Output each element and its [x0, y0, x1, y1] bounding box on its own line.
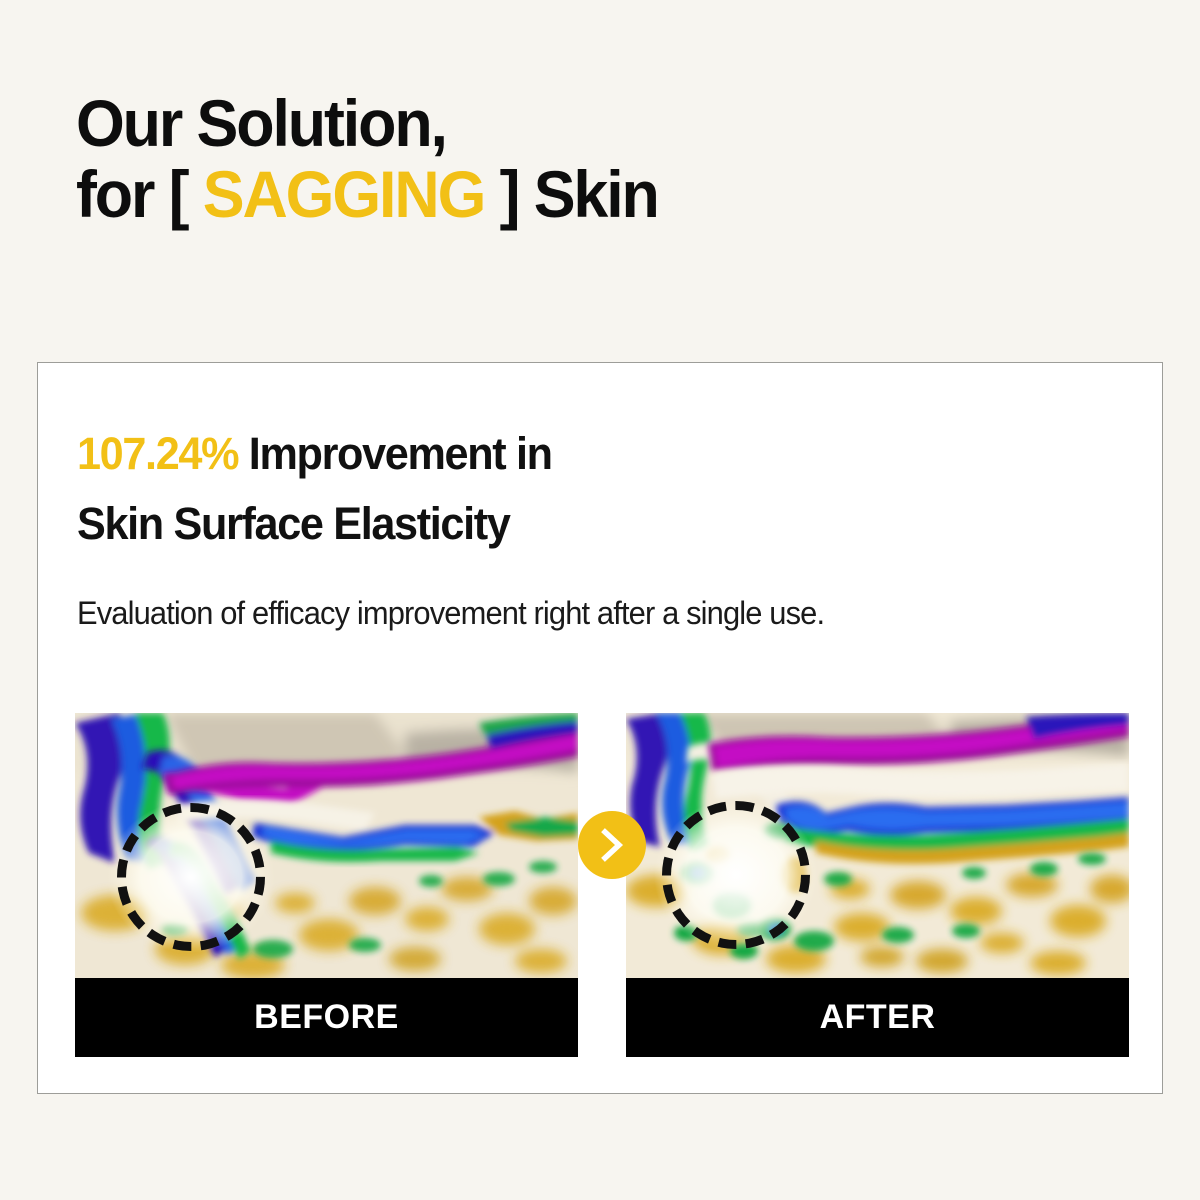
page-title-prefix: for [ — [76, 157, 203, 231]
page-title-line-2: for [ SAGGING ] Skin — [76, 159, 1026, 230]
comparison-panel-after: AFTER — [626, 713, 1129, 1057]
page-title-suffix: ] Skin — [484, 157, 658, 231]
before-after-comparison: BEFORE — [75, 713, 1129, 1057]
page-title-highlight: SAGGING — [203, 157, 484, 231]
promo-page: Our Solution, for [ SAGGING ] Skin 107.2… — [0, 0, 1200, 1200]
stat-percent-value: 107.24% — [77, 428, 238, 479]
highlight-ring-after — [662, 801, 810, 949]
chevron-right-icon[interactable] — [578, 811, 646, 879]
stat-heading-line-1-rest: Improvement in — [238, 428, 552, 479]
comparison-panel-before: BEFORE — [75, 713, 578, 1057]
efficacy-card: 107.24% Improvement in Skin Surface Elas… — [37, 362, 1163, 1094]
stat-heading-line-2: Skin Surface Elasticity — [77, 489, 1056, 559]
stat-heading-line-1: 107.24% Improvement in — [77, 419, 1056, 489]
highlight-ring-before — [117, 803, 265, 951]
panel-label-after: AFTER — [626, 978, 1129, 1057]
stat-heading: 107.24% Improvement in Skin Surface Elas… — [77, 419, 1056, 559]
panel-label-before: BEFORE — [75, 978, 578, 1057]
page-title-line-1: Our Solution, — [76, 88, 1026, 159]
stat-subtitle: Evaluation of efficacy improvement right… — [77, 595, 824, 632]
page-title: Our Solution, for [ SAGGING ] Skin — [76, 88, 1026, 229]
